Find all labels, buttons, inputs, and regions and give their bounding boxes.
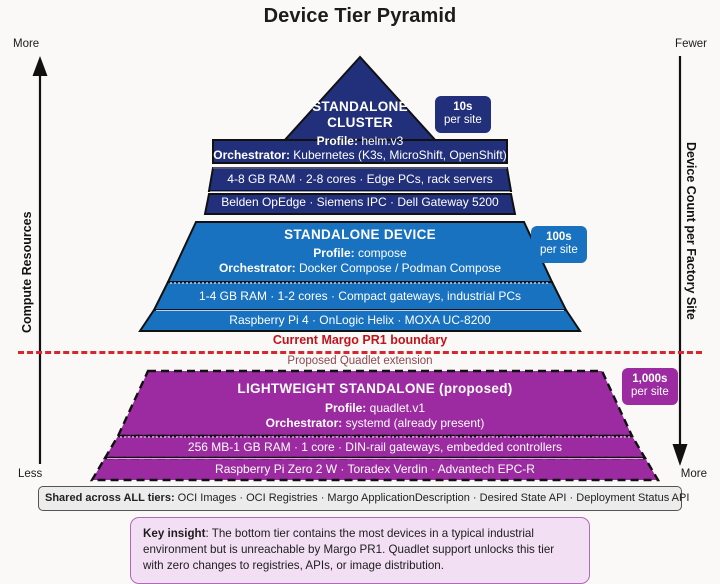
callout-count: 10s (444, 101, 482, 114)
tier-shape-lightweight-standalone (92, 371, 658, 480)
tier-shape-standalone-device (140, 222, 580, 331)
shared-across-tiers-bar: Shared across ALL tiers: OCI Images · OC… (38, 486, 682, 511)
proposed-extension-label: Proposed Quadlet extension (0, 355, 720, 367)
callout-standalone-cluster: 10s per site (435, 96, 491, 133)
key-insight-text: : The bottom tier contains the most devi… (143, 527, 554, 572)
diagram-canvas: Device Tier Pyramid More Compute Resourc… (0, 0, 720, 580)
callout-count: 100s (540, 231, 578, 244)
key-insight-box: Key insight: The bottom tier contains th… (130, 517, 590, 584)
key-insight-label: Key insight (143, 527, 206, 540)
callout-lightweight-standalone: 1,000s per site (622, 368, 678, 405)
shared-bar-items: OCI Images · OCI Registries · Margo Appl… (175, 492, 690, 504)
boundary-dashed-line (18, 351, 702, 354)
callout-unit: per site (540, 244, 578, 257)
callout-unit: per site (631, 386, 669, 399)
tier-shape-standalone-cluster (205, 57, 515, 214)
callout-unit: per site (444, 114, 482, 127)
boundary-label: Current Margo PR1 boundary (0, 333, 720, 347)
callout-count: 1,000s (631, 373, 669, 386)
shared-bar-label: Shared across ALL tiers: (45, 492, 175, 504)
callout-standalone-device: 100s per site (531, 226, 587, 263)
